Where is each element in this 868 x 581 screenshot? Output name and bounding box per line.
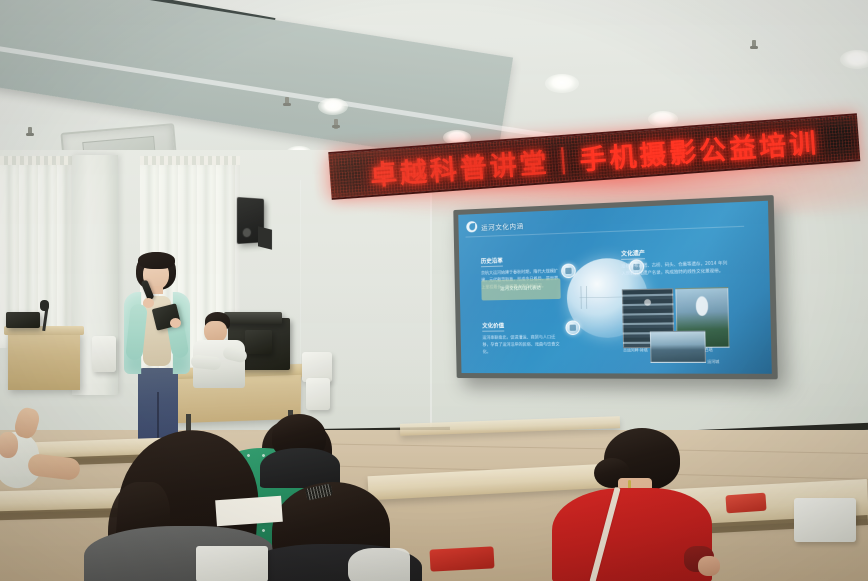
photo-caption: 古运河畔·砖塔 xyxy=(623,348,648,353)
photo-canal-city xyxy=(650,331,706,363)
recessed-downlight-icon xyxy=(545,74,579,93)
led-banner-separator: | xyxy=(548,142,580,175)
audience-man-back xyxy=(262,414,342,484)
photo-caption: 运河城 xyxy=(707,360,719,365)
led-banner-left-text: 卓越科普讲堂 xyxy=(368,140,550,192)
white-stacking-chair xyxy=(196,546,268,581)
recessed-downlight-icon xyxy=(648,111,678,127)
sprinkler-head-icon xyxy=(334,119,338,129)
paper-sheet xyxy=(215,496,283,527)
white-stacking-chair xyxy=(92,336,116,372)
slide-body-text: 沿线分布古塔、古桥、码头、仓廒等遗存，2014 年列入世界文化遗产名录，构成独特… xyxy=(621,260,728,277)
white-stacking-chair xyxy=(306,378,330,410)
speaker-mount-bracket xyxy=(258,226,272,249)
white-stacking-chair xyxy=(794,498,856,542)
sprinkler-head-icon xyxy=(28,127,32,135)
audience-woman-red xyxy=(556,428,746,581)
slide-diagram-node xyxy=(565,320,580,335)
slide-title-row: 运河文化内涵 xyxy=(466,219,524,233)
microphone-icon xyxy=(40,300,49,311)
audience-left-hand xyxy=(0,432,18,458)
photo-caption: 白塔 xyxy=(705,348,713,353)
slide-highlight-box: 运河文化的当代表达 xyxy=(481,278,560,300)
audience-black-collar xyxy=(348,548,410,581)
podium xyxy=(8,332,80,390)
presenter-hand xyxy=(143,298,154,308)
slide-body-text: 运河串联南北，促进漕运、商贸与人口迁移，孕育了运河沿岸的民俗、戏曲与饮食文化。 xyxy=(482,334,559,355)
display-screen: 运河文化内涵 历史沿革 京杭大运河始建于春秋时期，隋代大规模扩建，元代截弯取直，… xyxy=(458,201,772,374)
presenter-hand xyxy=(170,318,181,328)
photo-scene: 卓越科普讲堂 | 手机摄影公益培训 运河文化内涵 历史沿革 京杭大运河始建于春秋… xyxy=(0,0,868,581)
curtain-rail xyxy=(140,156,240,165)
seated-operator-man xyxy=(195,312,251,392)
slide-title: 运河文化内涵 xyxy=(481,220,524,232)
sprinkler-head-icon xyxy=(752,40,756,48)
wall-mounted-display[interactable]: 运河文化内涵 历史沿革 京杭大运河始建于春秋时期，隋代大规模扩建，元代截弯取直，… xyxy=(453,195,777,379)
slide-heading: 历史沿革 xyxy=(481,256,503,267)
presenter-fringe xyxy=(138,252,175,269)
curtain-rail xyxy=(0,156,74,165)
circle-leaf-logo-icon xyxy=(466,221,477,233)
slide-heading: 文化遗产 xyxy=(621,249,645,260)
slide-column-heritage: 文化遗产 沿线分布古塔、古桥、码头、仓廒等遗存，2014 年列入世界文化遗产名录… xyxy=(621,238,728,277)
recessed-downlight-icon xyxy=(840,50,868,69)
presenter-woman xyxy=(118,252,198,448)
recessed-downlight-icon xyxy=(318,98,348,115)
slide-heading: 文化价值 xyxy=(482,321,504,331)
audience-red-hand xyxy=(698,556,720,576)
sprinkler-head-icon xyxy=(285,97,289,105)
red-object-on-table xyxy=(429,546,494,571)
wall-seam xyxy=(430,160,432,440)
red-object-on-table xyxy=(725,493,766,514)
slide-column-value: 文化价值 运河串联南北，促进漕运、商贸与人口迁移，孕育了运河沿岸的民俗、戏曲与饮… xyxy=(482,313,560,355)
podium-equipment xyxy=(6,312,40,328)
